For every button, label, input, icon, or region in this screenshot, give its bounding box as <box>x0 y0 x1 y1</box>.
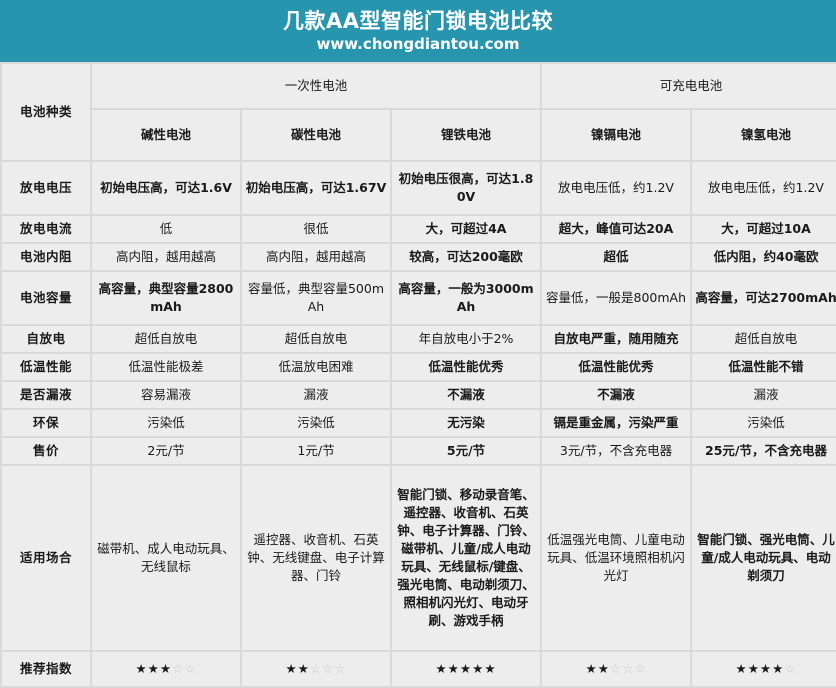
cell-3: 较高，可达200毫欧 <box>392 244 540 270</box>
cell-1: 2元/节 <box>92 438 240 464</box>
column-header-2: 碳性电池 <box>242 110 390 160</box>
table-row: 自放电超低自放电超低自放电年自放电小于2%自放电严重，随用随充超低自放电 <box>2 326 836 352</box>
column-header-3: 锂铁电池 <box>392 110 540 160</box>
cell-4: 超大，峰值可达20A <box>542 216 690 242</box>
cell-4: 低温强光电筒、儿童电动玩具、低温环境照相机闪光灯 <box>542 466 690 650</box>
cell-4: 自放电严重，随用随充 <box>542 326 690 352</box>
cell-3: 大，可超过4A <box>392 216 540 242</box>
header-banner: 几款AA型智能门锁电池比较 www.chongdiantou.com <box>0 0 836 62</box>
table-row: 放电电压初始电压高，可达1.6V初始电压高，可达1.67V初始电压很高，可达1.… <box>2 162 836 214</box>
comparison-infographic: 几款AA型智能门锁电池比较 www.chongdiantou.com 电池种类一… <box>0 0 836 643</box>
table-row: 电池容量高容量，典型容量2800mAh容量低，典型容量500mAh高容量，一般为… <box>2 272 836 324</box>
cell-3: 智能门锁、移动录音笔、遥控器、收音机、石英钟、电子计算器、门铃、磁带机、儿童/成… <box>392 466 540 650</box>
table-row: 放电电流低很低大，可超过4A超大，峰值可达20A大，可超过10A <box>2 216 836 242</box>
cell-2: 1元/节 <box>242 438 390 464</box>
cell-2: 遥控器、收音机、石英钟、无线键盘、电子计算器、门铃 <box>242 466 390 650</box>
cell-3: 不漏液 <box>392 382 540 408</box>
table-row: 适用场合磁带机、成人电动玩具、无线鼠标遥控器、收音机、石英钟、无线键盘、电子计算… <box>2 466 836 650</box>
cell-4: 镉是重金属，污染严重 <box>542 410 690 436</box>
cell-5: 污染低 <box>692 410 836 436</box>
column-group-header-1: 一次性电池 <box>92 64 540 108</box>
cell-1: 初始电压高，可达1.6V <box>92 162 240 214</box>
cell-3: 5元/节 <box>392 438 540 464</box>
table-row: 是否漏液容易漏液漏液不漏液不漏液漏液 <box>2 382 836 408</box>
cell-2: 超低自放电 <box>242 326 390 352</box>
cell-2: 漏液 <box>242 382 390 408</box>
cell-4: 超低 <box>542 244 690 270</box>
table-row: 电池内阻高内阻，越用越高高内阻，越用越高较高，可达200毫欧超低低内阻，约40毫… <box>2 244 836 270</box>
table-body: 电池种类一次性电池可充电电池碱性电池碳性电池锂铁电池镍镉电池镍氢电池放电电压初始… <box>2 64 836 686</box>
table-row: 售价2元/节1元/节5元/节3元/节，不含充电器25元/节，不含充电器 <box>2 438 836 464</box>
table-row: 环保污染低污染低无污染镉是重金属，污染严重污染低 <box>2 410 836 436</box>
row-label: 适用场合 <box>2 466 90 650</box>
row-label: 是否漏液 <box>2 382 90 408</box>
cell-3: 初始电压很高，可达1.80V <box>392 162 540 214</box>
column-header-5: 镍氢电池 <box>692 110 836 160</box>
cell-5: 25元/节，不含充电器 <box>692 438 836 464</box>
row-label: 电池容量 <box>2 272 90 324</box>
cell-5: 智能门锁、强光电筒、儿童/成人电动玩具、电动剃须刀 <box>692 466 836 650</box>
page-title: 几款AA型智能门锁电池比较 <box>283 10 553 32</box>
cell-5: 漏液 <box>692 382 836 408</box>
cell-1: 低温性能极差 <box>92 354 240 380</box>
cell-2: 初始电压高，可达1.67V <box>242 162 390 214</box>
rating-stars-2: ★★☆☆☆ <box>242 652 390 686</box>
cell-1: 容易漏液 <box>92 382 240 408</box>
cell-1: 低 <box>92 216 240 242</box>
cell-5: 低内阻，约40毫欧 <box>692 244 836 270</box>
cell-5: 超低自放电 <box>692 326 836 352</box>
cell-5: 大，可超过10A <box>692 216 836 242</box>
row-label: 低温性能 <box>2 354 90 380</box>
row-label: 自放电 <box>2 326 90 352</box>
column-header-1: 碱性电池 <box>92 110 240 160</box>
cell-2: 容量低，典型容量500mAh <box>242 272 390 324</box>
cell-3: 低温性能优秀 <box>392 354 540 380</box>
battery-comparison-table: 电池种类一次性电池可充电电池碱性电池碳性电池锂铁电池镍镉电池镍氢电池放电电压初始… <box>0 62 836 688</box>
site-url: www.chongdiantou.com <box>317 35 520 54</box>
row-label: 放电电流 <box>2 216 90 242</box>
rating-stars-5: ★★★★☆ <box>692 652 836 686</box>
rating-stars-1: ★★★☆☆ <box>92 652 240 686</box>
cell-2: 低温放电困难 <box>242 354 390 380</box>
cell-5: 高容量，可达2700mAh <box>692 272 836 324</box>
cell-1: 污染低 <box>92 410 240 436</box>
cell-5: 低温性能不错 <box>692 354 836 380</box>
cell-2: 污染低 <box>242 410 390 436</box>
cell-4: 不漏液 <box>542 382 690 408</box>
row-label: 环保 <box>2 410 90 436</box>
table-row: 低温性能低温性能极差低温放电困难低温性能优秀低温性能优秀低温性能不错 <box>2 354 836 380</box>
corner-label: 电池种类 <box>2 64 90 160</box>
cell-1: 磁带机、成人电动玩具、无线鼠标 <box>92 466 240 650</box>
cell-3: 高容量，一般为3000mAh <box>392 272 540 324</box>
rating-stars-4: ★★☆☆☆ <box>542 652 690 686</box>
column-header-4: 镍镉电池 <box>542 110 690 160</box>
column-group-header-2: 可充电电池 <box>542 64 836 108</box>
cell-1: 高容量，典型容量2800mAh <box>92 272 240 324</box>
cell-4: 3元/节，不含充电器 <box>542 438 690 464</box>
cell-3: 无污染 <box>392 410 540 436</box>
rating-row: 推荐指数★★★☆☆★★☆☆☆★★★★★★★☆☆☆★★★★☆ <box>2 652 836 686</box>
row-label: 放电电压 <box>2 162 90 214</box>
row-label: 推荐指数 <box>2 652 90 686</box>
cell-1: 高内阻，越用越高 <box>92 244 240 270</box>
cell-5: 放电电压低，约1.2V <box>692 162 836 214</box>
cell-2: 高内阻，越用越高 <box>242 244 390 270</box>
cell-3: 年自放电小于2% <box>392 326 540 352</box>
row-label: 电池内阻 <box>2 244 90 270</box>
cell-4: 放电电压低，约1.2V <box>542 162 690 214</box>
cell-4: 容量低，一般是800mAh <box>542 272 690 324</box>
cell-4: 低温性能优秀 <box>542 354 690 380</box>
rating-stars-3: ★★★★★ <box>392 652 540 686</box>
cell-2: 很低 <box>242 216 390 242</box>
row-label: 售价 <box>2 438 90 464</box>
cell-1: 超低自放电 <box>92 326 240 352</box>
